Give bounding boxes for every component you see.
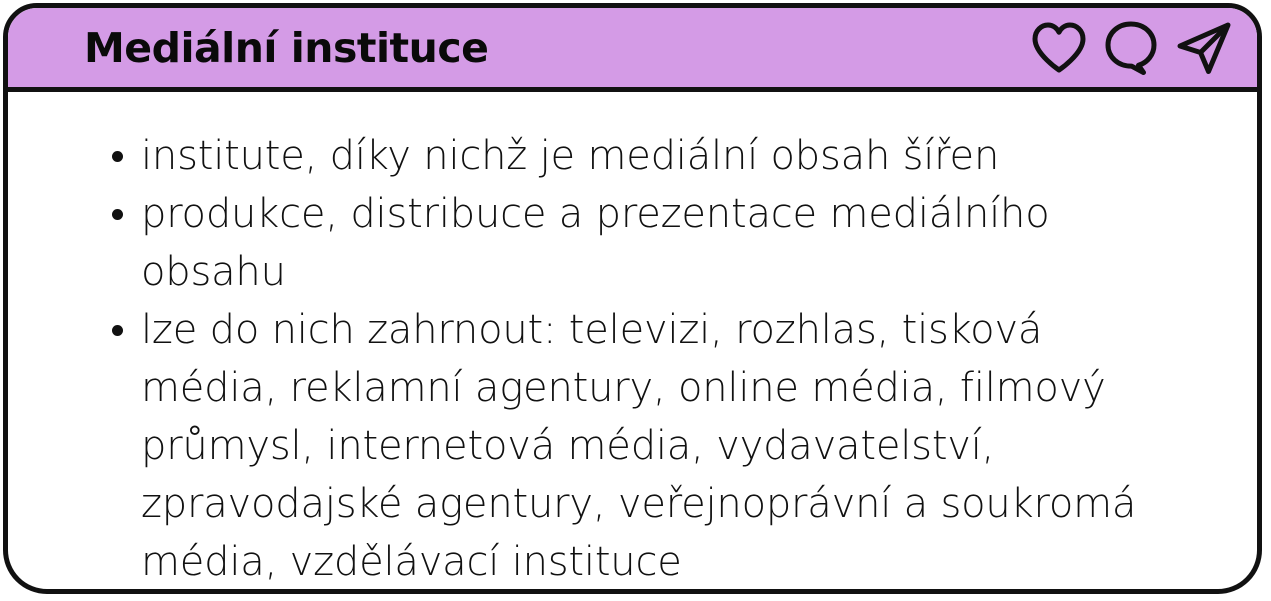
bullet-marker <box>111 127 123 185</box>
list-item-text: produkce, distribuce a prezentace mediál… <box>141 185 1179 301</box>
card-body: institute, díky nichž je mediální obsah … <box>8 92 1257 556</box>
heart-icon[interactable] <box>1031 22 1087 74</box>
share-icon[interactable] <box>1175 19 1235 77</box>
comment-icon[interactable] <box>1103 20 1159 76</box>
list-item-text: institute, díky nichž je mediální obsah … <box>141 127 1179 185</box>
list-item-text: lze do nich zahrnout: televizi, rozhlas,… <box>141 301 1179 591</box>
header-actions <box>1031 8 1235 87</box>
list-item: produkce, distribuce a prezentace mediál… <box>8 185 1179 301</box>
media-institutions-card: Mediální instituce <box>3 3 1262 594</box>
page-title: Mediální instituce <box>84 24 488 72</box>
bullet-list: institute, díky nichž je mediální obsah … <box>8 127 1257 591</box>
list-item: lze do nich zahrnout: televizi, rozhlas,… <box>8 301 1179 591</box>
bullet-marker <box>111 185 123 243</box>
card-header: Mediální instituce <box>8 8 1257 92</box>
bullet-marker <box>111 301 123 359</box>
list-item: institute, díky nichž je mediální obsah … <box>8 127 1179 185</box>
